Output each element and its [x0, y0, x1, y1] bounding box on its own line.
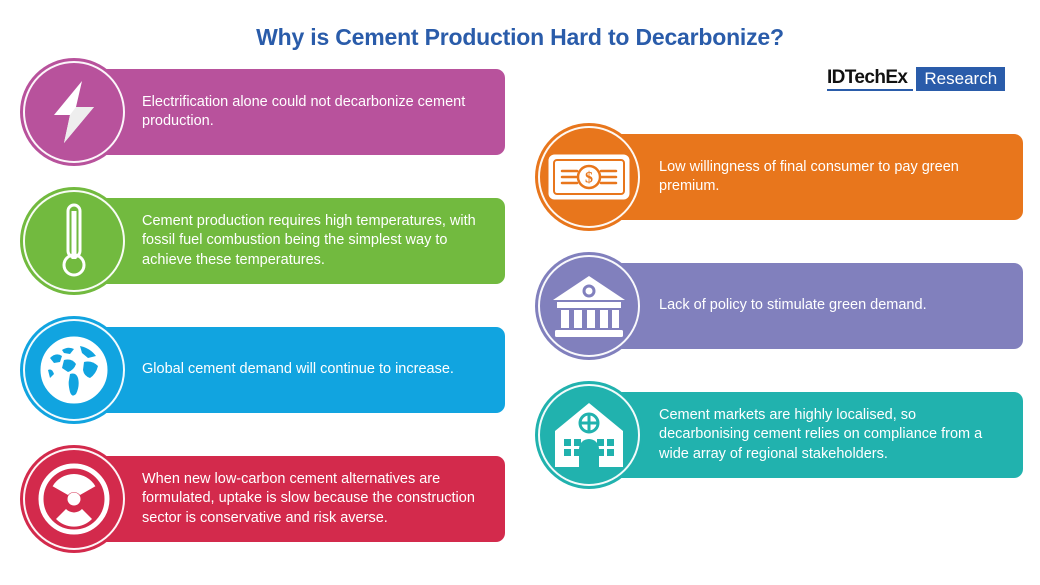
- factor-text: Lack of policy to stimulate green demand…: [659, 263, 1009, 349]
- logo-wordmark: IDTechEx: [827, 67, 913, 91]
- factor-icon-circle: [20, 316, 128, 424]
- factor-text: Low willingness of final consumer to pay…: [659, 134, 1009, 220]
- factor-icon-circle: $: [535, 123, 643, 231]
- factor-icon-circle: [20, 445, 128, 553]
- svg-text:$: $: [585, 170, 593, 187]
- factor-text: Global cement demand will continue to in…: [142, 327, 491, 413]
- factor-text: Cement markets are highly localised, so …: [659, 392, 1009, 478]
- lightning-bolt-icon: [20, 58, 128, 166]
- radiation-icon: [20, 445, 128, 553]
- page-title: Why is Cement Production Hard to Decarbo…: [0, 24, 1040, 51]
- factor-text: Cement production requires high temperat…: [142, 198, 491, 284]
- banknote-icon: $: [535, 123, 643, 231]
- factor-icon-circle: [535, 381, 643, 489]
- factor-icon-circle: [20, 58, 128, 166]
- factor-item: Global cement demand will continue to in…: [20, 316, 505, 424]
- factor-icon-circle: [535, 252, 643, 360]
- factor-item: Electrification alone could not decarbon…: [20, 58, 505, 166]
- factor-item: $ Low willingness of final consumer to p…: [535, 123, 1023, 231]
- factor-item: Cement markets are highly localised, so …: [535, 381, 1023, 489]
- idtechex-research-logo: IDTechEx Research: [827, 67, 1005, 91]
- left-column: Electrification alone could not decarbon…: [20, 58, 505, 574]
- bank-building-icon: [535, 252, 643, 360]
- factor-text: When new low-carbon cement alternatives …: [142, 456, 491, 542]
- logo-research-tag: Research: [916, 67, 1005, 91]
- globe-icon: [20, 316, 128, 424]
- house-icon: [535, 381, 643, 489]
- factor-item: When new low-carbon cement alternatives …: [20, 445, 505, 553]
- factor-icon-circle: [20, 187, 128, 295]
- factor-item: Cement production requires high temperat…: [20, 187, 505, 295]
- right-column: $ Low willingness of final consumer to p…: [535, 123, 1023, 510]
- factor-item: Lack of policy to stimulate green demand…: [535, 252, 1023, 360]
- thermometer-icon: [20, 187, 128, 295]
- factor-text: Electrification alone could not decarbon…: [142, 69, 491, 155]
